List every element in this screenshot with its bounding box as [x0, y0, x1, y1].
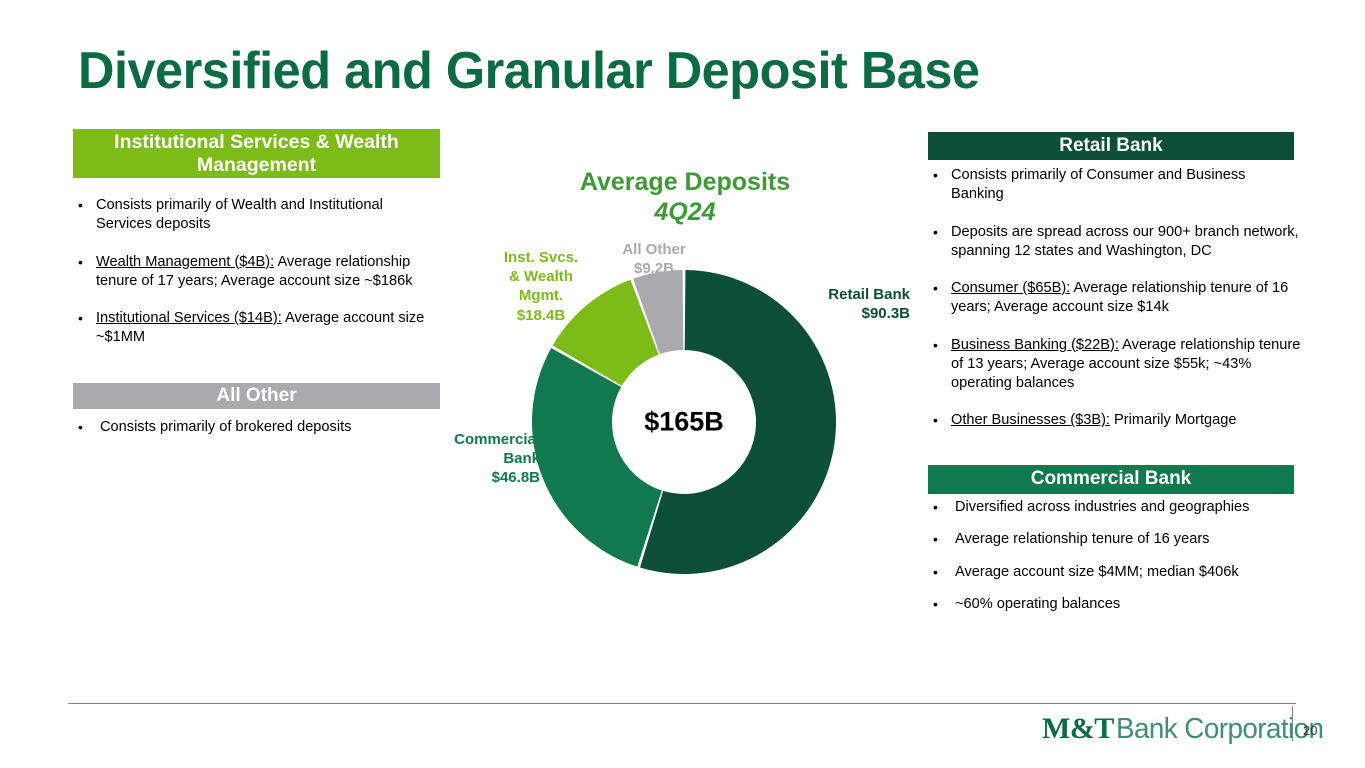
slice-label-all-other: All Other $9.2B [600, 240, 708, 278]
mt-bank-corporation-logo: M&T Bank Corporation [1042, 712, 1332, 746]
chart-title: Average Deposits [520, 168, 850, 196]
donut-center-total: $165B [644, 407, 724, 438]
bullet-text: Consists primarily of Consumer and Busin… [951, 166, 1301, 205]
list-item: • Consists primarily of brokered deposit… [78, 418, 438, 437]
bullet-body: Consists primarily of Wealth and Institu… [96, 197, 383, 232]
bullet-dot-icon: • [933, 223, 951, 262]
list-item: • Average relationship tenure of 16 year… [933, 530, 1301, 549]
list-item: • Consists primarily of Wealth and Insti… [78, 196, 438, 235]
bullet-lead: Wealth Management ($4B): [96, 254, 274, 270]
bullet-text: Average account size $4MM; median $406k [955, 563, 1301, 582]
list-item: • ~60% operating balances [933, 595, 1301, 614]
bullet-dot-icon: • [933, 411, 951, 430]
list-item: • Consists primarily of Consumer and Bus… [933, 166, 1301, 205]
bullet-text: ~60% operating balances [955, 595, 1301, 614]
bullet-list-all-other: • Consists primarily of brokered deposit… [78, 418, 438, 451]
bullet-dot-icon: • [78, 418, 100, 437]
bullet-text: Consists primarily of Wealth and Institu… [96, 196, 438, 235]
bullet-dot-icon: • [933, 279, 951, 318]
list-item: • Consumer ($65B): Average relationship … [933, 279, 1301, 318]
bullet-text: Consists primarily of brokered deposits [100, 418, 438, 437]
list-item: • Other Businesses ($3B): Primarily Mort… [933, 411, 1301, 430]
bullet-list-institutional-services-wealth: • Consists primarily of Wealth and Insti… [78, 196, 438, 366]
panel-header-institutional-services-wealth: Institutional Services & Wealth Manageme… [73, 129, 440, 178]
slice-label-institutional-services-wealth: Inst. Svcs. & Wealth Mgmt. $18.4B [490, 248, 592, 325]
chart-subtitle: 4Q24 [520, 198, 850, 227]
bullet-body: Consists primarily of Consumer and Busin… [951, 167, 1245, 202]
panel-header-commercial-bank: Commercial Bank [928, 465, 1294, 494]
bullet-list-commercial-bank: • Diversified across industries and geog… [933, 498, 1301, 627]
list-item: • Diversified across industries and geog… [933, 498, 1301, 517]
list-item: • Wealth Management ($4B): Average relat… [78, 253, 438, 292]
bullet-dot-icon: • [78, 253, 96, 292]
bullet-text: Consumer ($65B): Average relationship te… [951, 279, 1301, 318]
bullet-dot-icon: • [933, 498, 955, 517]
bullet-text: Institutional Services ($14B): Average a… [96, 309, 438, 348]
bullet-text: Deposits are spread across our 900+ bran… [951, 223, 1301, 262]
list-item: • Institutional Services ($14B): Average… [78, 309, 438, 348]
panel-header-all-other: All Other [73, 383, 440, 409]
list-item: • Business Banking ($22B): Average relat… [933, 336, 1301, 394]
bullet-dot-icon: • [933, 166, 951, 205]
bullet-dot-icon: • [78, 196, 96, 235]
bullet-text: Other Businesses ($3B): Primarily Mortga… [951, 411, 1301, 430]
bullet-dot-icon: • [933, 530, 955, 549]
bullet-lead: Institutional Services ($14B): [96, 310, 282, 326]
bullet-dot-icon: • [78, 309, 96, 348]
footer-divider-rule [68, 703, 1296, 704]
bullet-dot-icon: • [933, 336, 951, 394]
page-title: Diversified and Granular Deposit Base [78, 44, 1203, 99]
donut-slice [532, 348, 662, 567]
bullet-dot-icon: • [933, 595, 955, 614]
bullet-text: Diversified across industries and geogra… [955, 498, 1301, 517]
panel-header-retail-bank: Retail Bank [928, 132, 1294, 160]
bullet-text: Wealth Management ($4B): Average relatio… [96, 253, 438, 292]
list-item: • Average account size $4MM; median $406… [933, 563, 1301, 582]
list-item: • Deposits are spread across our 900+ br… [933, 223, 1301, 262]
page-number: 20 [1303, 723, 1317, 738]
footer-vertical-divider [1292, 706, 1293, 741]
bullet-lead: Business Banking ($22B): [951, 337, 1119, 353]
bullet-list-retail-bank: • Consists primarily of Consumer and Bus… [933, 166, 1301, 449]
bullet-lead: Other Businesses ($3B): [951, 412, 1110, 428]
logo-mt-text: M&T [1042, 712, 1114, 746]
bullet-text: Business Banking ($22B): Average relatio… [951, 336, 1301, 394]
bullet-dot-icon: • [933, 563, 955, 582]
slice-label-commercial-bank: Commercial Bank $46.8B [420, 430, 540, 488]
slice-label-retail-bank: Retail Bank $90.3B [780, 285, 910, 323]
bullet-body: Deposits are spread across our 900+ bran… [951, 224, 1299, 259]
bullet-lead: Consumer ($65B): [951, 280, 1070, 296]
bullet-text: Average relationship tenure of 16 years [955, 530, 1301, 549]
bullet-body: Primarily Mortgage [1110, 412, 1237, 428]
